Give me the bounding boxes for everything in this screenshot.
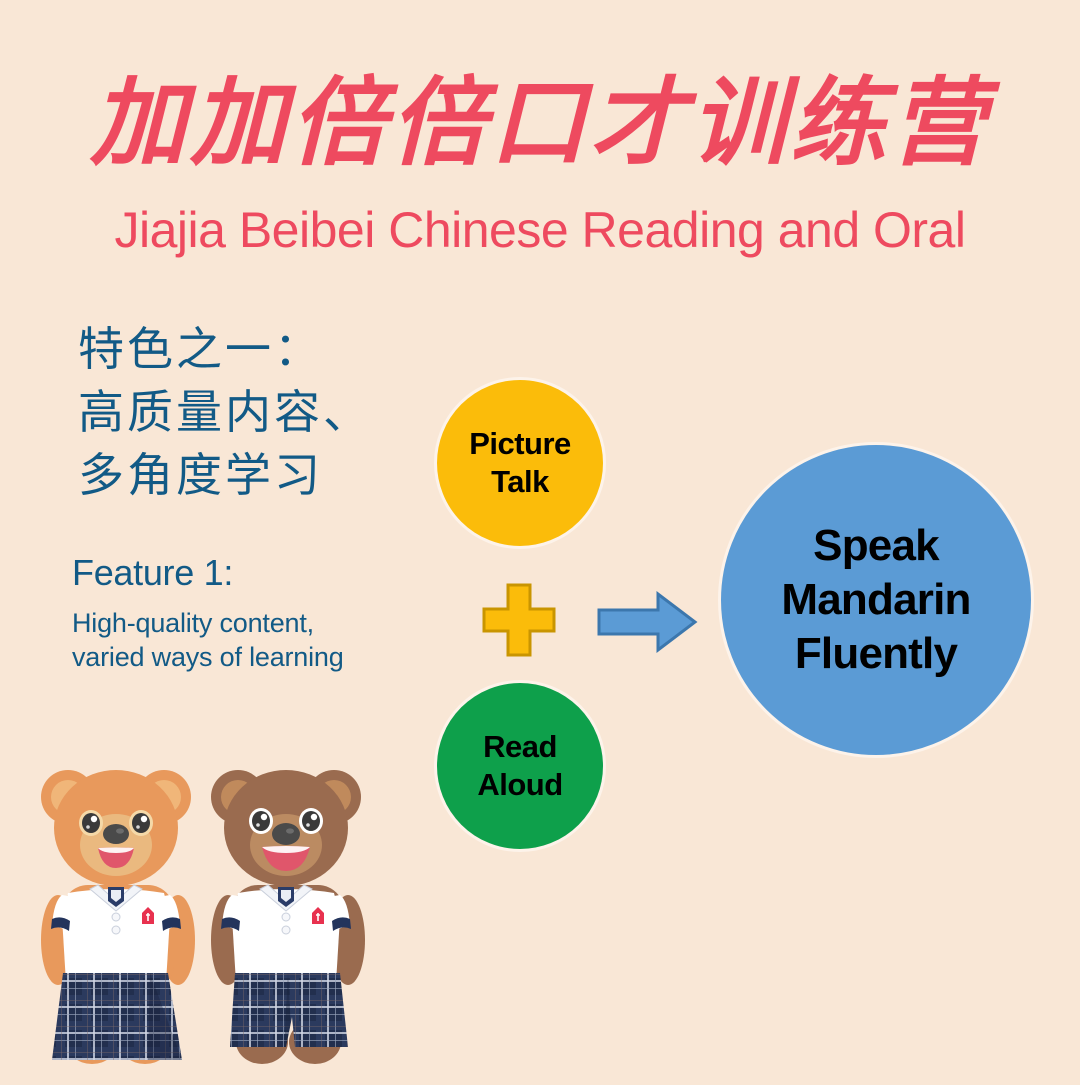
bear-light bbox=[41, 770, 195, 1064]
feature-description: High-quality content, varied ways of lea… bbox=[72, 606, 344, 674]
page-title-chinese: 加加倍倍口才训练营 bbox=[0, 72, 1080, 176]
poster-canvas: 加加倍倍口才训练营 Jiajia Beibei Chinese Reading … bbox=[0, 0, 1080, 1080]
page-subtitle-english: Jiajia Beibei Chinese Reading and Oral bbox=[0, 202, 1080, 258]
diagram-node-read-aloud[interactable]: Read Aloud bbox=[434, 680, 606, 852]
plus-icon bbox=[482, 583, 556, 657]
diagram-node-picture-talk[interactable]: Picture Talk bbox=[434, 377, 606, 549]
diagram-node-speak-mandarin[interactable]: Speak Mandarin Fluently bbox=[718, 442, 1034, 758]
feature-heading-chinese: 特色之一： 高质量内容、 多角度学习 bbox=[78, 318, 372, 507]
feature-label: Feature 1: bbox=[72, 552, 233, 594]
mascot-bears bbox=[30, 735, 430, 1080]
bear-dark bbox=[211, 770, 365, 1064]
arrow-right-icon bbox=[596, 591, 698, 653]
